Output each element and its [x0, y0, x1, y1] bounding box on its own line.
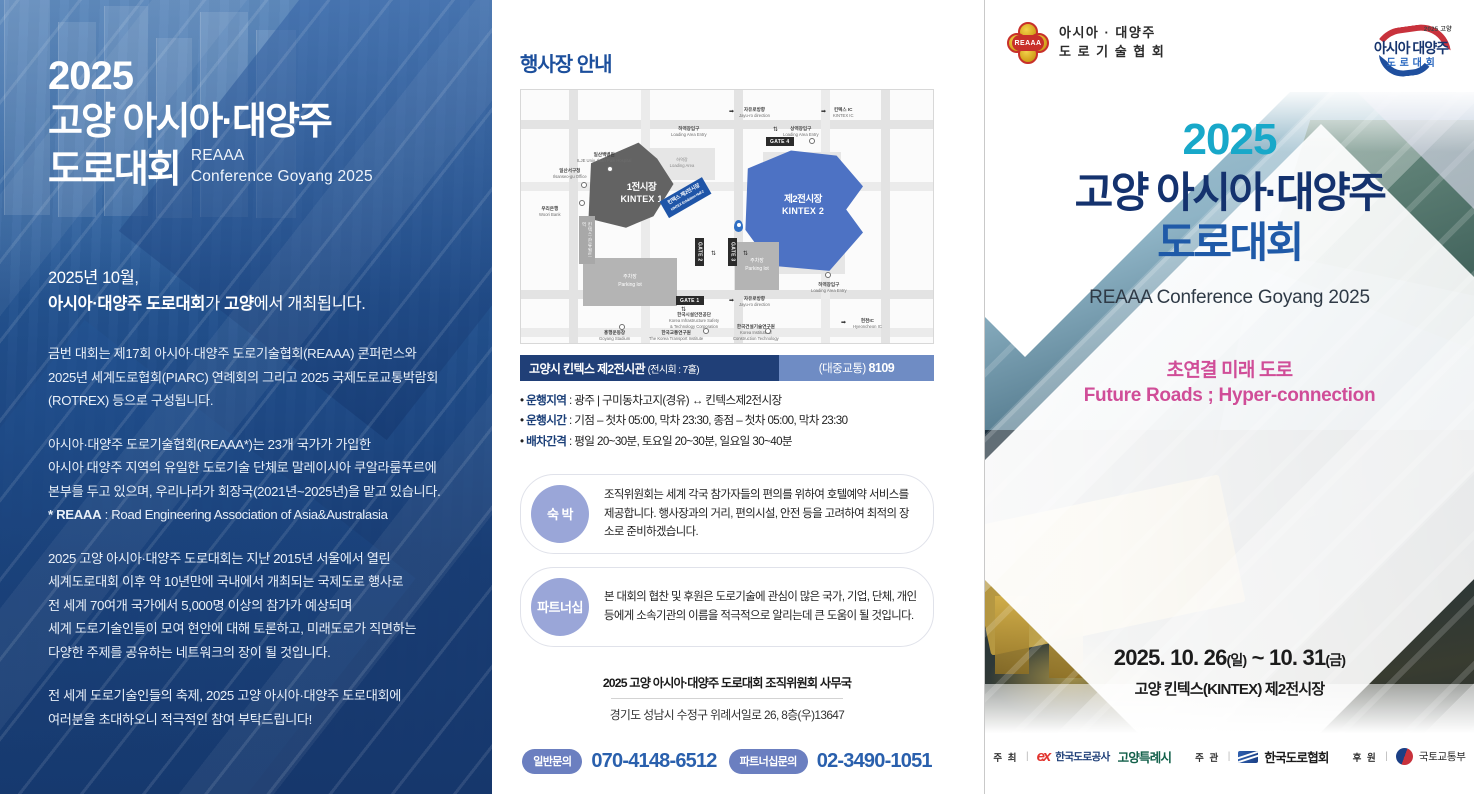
- date-start-day: (일): [1227, 652, 1247, 668]
- gate-2-marker[interactable]: GATE 2: [695, 238, 704, 266]
- event-venue: 고양 킨텍스(KINTEX) 제2전시장: [985, 678, 1474, 699]
- goyang-logo-line2: 도 로 대 회: [1370, 54, 1452, 69]
- right-title-line2: 도로대회: [985, 218, 1474, 268]
- bus-info-list: • 운행지역 : 광주 | 구미동차고지(경유) ↔ 킨텍스제2전시장 • 운행…: [520, 391, 962, 452]
- partnership-text: 본 대회의 협찬 및 후원은 도로기술에 관심이 많은 국가, 기업, 단체, …: [604, 588, 917, 625]
- brochure-page: 2025 고양 아시아·대양주 도로대회 REAAA Conference Go…: [0, 0, 1474, 794]
- left-content: 2025 고양 아시아·대양주 도로대회 REAAA Conference Go…: [0, 0, 492, 731]
- bus-venue-cell: 고양시 킨텍스 제2전시관 (전시회 : 7홀): [520, 355, 779, 381]
- sponsor-korea-road-assoc: 한국도로협회: [1264, 747, 1328, 766]
- date-start: 2025. 10. 26: [1114, 645, 1227, 670]
- left-paragraph-3: 2025 고양 아시아·대양주 도로대회는 지난 2015년 서울에서 열린 세…: [48, 547, 458, 665]
- goyang-logo-year: 2025 고양: [1424, 24, 1452, 33]
- general-inquiry-chip: 일반문의: [522, 749, 582, 774]
- accommodation-capsule: 숙 박 조직위원회는 세계 각국 참가자들의 편의를 위하여 호텔예약 서비스를…: [520, 474, 934, 554]
- left-footnote-text: : Road Engineering Association of Asia&A…: [101, 507, 387, 522]
- bus-row-label: 운행시간: [526, 414, 566, 427]
- left-body: 금번 대회는 제17회 아시아·대양주 도로기술협회(REAAA) 콘퍼런스와 …: [48, 342, 458, 731]
- right-logo-row: REAAA 아시아 · 대양주 도 로 기 술 협 회 2025 고양 아시아 …: [985, 16, 1474, 76]
- bus-row-label: 운행지역: [526, 394, 566, 407]
- left-lead-mid: 가: [205, 295, 224, 313]
- bus-row-value: 기점 – 첫차 05:00, 막차 23:30, 종점 – 첫차 05:00, …: [574, 414, 847, 427]
- right-subtitle-en: REAAA Conference Goyang 2025: [985, 287, 1474, 309]
- left-footnote: * REAAA : Road Engineering Association o…: [48, 503, 458, 527]
- venue-guide-heading: 행사장 안내: [520, 48, 962, 77]
- reaaa-logo: REAAA 아시아 · 대양주 도 로 기 술 협 회: [1007, 22, 1165, 64]
- bus-venue-name: 고양시 킨텍스 제2전시관: [529, 362, 645, 376]
- middle-panel: 행사장 안내 하역장Loading Area 하역장Loading Area 하…: [492, 0, 985, 794]
- goyang-conference-logo: 2025 고양 아시아 대양주 도 로 대 회: [1368, 18, 1454, 80]
- gate-4-marker[interactable]: GATE 4: [766, 137, 794, 146]
- sponsor-divider: |: [1026, 751, 1029, 762]
- bus-info-row: • 배차간격 : 평일 20~30분, 토요일 20~30분, 일요일 30~4…: [520, 432, 962, 452]
- gate-1-marker[interactable]: GATE 1: [676, 296, 704, 305]
- general-inquiry[interactable]: 일반문의 070-4148-6512: [522, 749, 716, 774]
- left-paragraph-1: 금번 대회는 제17회 아시아·대양주 도로기술협회(REAAA) 콘퍼런스와 …: [48, 342, 458, 413]
- right-year: 2025: [985, 118, 1474, 162]
- bus-row-value: 평일 20~30분, 토요일 20~30분, 일요일 30~40분: [574, 435, 792, 448]
- hall2-label-en: KINTEX 2: [753, 206, 853, 217]
- left-lead: 2025년 10월, 아시아·대양주 도로대회가 고양에서 개최됩니다.: [48, 265, 458, 318]
- left-subtitle: REAAA Conference Goyang 2025: [191, 146, 373, 193]
- reaaa-logo-text: 아시아 · 대양주 도 로 기 술 협 회: [1059, 24, 1165, 62]
- left-lead-tail: 에서 개최됩니다.: [254, 295, 366, 313]
- sponsor-korea-expressway: 한국도로공사: [1055, 749, 1109, 764]
- left-footnote-label: * REAAA: [48, 507, 101, 522]
- office-name: 2025 고양 아시아·대양주 도로대회 조직위원회 사무국: [520, 673, 934, 691]
- bus-row-value: 광주 | 구미동차고지(경유) ↔ 킨텍스제2전시장: [574, 394, 781, 407]
- parking-lot: 주차장Parking lot: [735, 242, 779, 290]
- right-title-line1: 고양 아시아·대양주: [985, 168, 1474, 218]
- date-end-day: (금): [1325, 652, 1345, 668]
- office-divider: [611, 698, 843, 699]
- bus-route-cell: (대중교통) 8109: [779, 355, 934, 381]
- sponsor-divider: |: [1228, 751, 1231, 762]
- reaaa-logo-line2: 도 로 기 술 협 회: [1059, 43, 1165, 62]
- sponsor-role-organizer: 주 관: [1195, 750, 1220, 764]
- office-address: 경기도 성남시 수정구 위례서일로 26, 8층(우)13647: [520, 706, 934, 723]
- bus-info-header: 고양시 킨텍스 제2전시관 (전시회 : 7홀) (대중교통) 8109: [520, 355, 934, 381]
- right-title-block: 2025 고양 아시아·대양주 도로대회 REAAA Conference Go…: [985, 118, 1474, 407]
- sponsor-divider: |: [1385, 751, 1388, 762]
- left-lead-strong: 아시아·대양주 도로대회: [48, 295, 205, 313]
- partnership-inquiry-number[interactable]: 02-3490-1051: [817, 750, 932, 773]
- organizing-office: 2025 고양 아시아·대양주 도로대회 조직위원회 사무국 경기도 성남시 수…: [520, 673, 934, 723]
- sponsor-ex-logo: ex 한국도로공사: [1037, 748, 1110, 765]
- right-content: REAAA 아시아 · 대양주 도 로 기 술 협 회 2025 고양 아시아 …: [985, 0, 1474, 794]
- venue-map[interactable]: 하역장Loading Area 하역장Loading Area 하역장Loadi…: [520, 89, 934, 344]
- bus-transport-label: (대중교통): [819, 363, 866, 375]
- left-title-row: 도로대회 REAAA Conference Goyang 2025: [48, 146, 458, 193]
- left-subtitle-line1: REAAA: [191, 146, 373, 167]
- sponsor-role-support: 후 원: [1353, 750, 1378, 764]
- bus-row-label: 배차간격: [526, 435, 566, 448]
- sponsor-role-host: 주 최: [993, 750, 1018, 764]
- sponsor-kra-logo: 한국도로협회: [1238, 747, 1328, 766]
- bus-route-number: 8109: [868, 361, 894, 375]
- accommodation-badge: 숙 박: [531, 485, 589, 543]
- map-pin-icon: [734, 220, 743, 232]
- gate-3-marker[interactable]: GATE 3: [728, 238, 737, 266]
- left-title-line1: 고양 아시아·대양주: [48, 100, 458, 145]
- ex-mark-icon: ex: [1037, 748, 1050, 765]
- parking-lot: 주차장Parking lot: [583, 258, 677, 306]
- left-paragraph-4: 전 세계 도로기술인들의 축제, 2025 고양 아시아·대양주 도로대회에 여…: [48, 684, 458, 731]
- bus-venue-hall: (전시회 : 7홀): [648, 365, 699, 376]
- parking-kr: 주차장: [583, 274, 677, 282]
- left-paragraph-2: 아시아·대양주 도로기술협회(REAAA*)는 23개 국가가 가입한 아시아 …: [48, 433, 458, 504]
- right-panel: REAAA 아시아 · 대양주 도 로 기 술 협 회 2025 고양 아시아 …: [985, 0, 1474, 794]
- subway-station-label: 킨텍스·한류월드역: [579, 216, 595, 264]
- bus-info-row: • 운행지역 : 광주 | 구미동차고지(경유) ↔ 킨텍스제2전시장: [520, 391, 962, 411]
- left-lead-city: 고양: [224, 295, 254, 313]
- taegeuk-icon: [1396, 748, 1413, 765]
- partnership-capsule: 파트너십 본 대회의 협찬 및 후원은 도로기술에 관심이 많은 국가, 기업,…: [520, 567, 934, 647]
- reaaa-logo-line1: 아시아 · 대양주: [1059, 24, 1165, 43]
- left-panel: 2025 고양 아시아·대양주 도로대회 REAAA Conference Go…: [0, 0, 492, 794]
- date-tilde: ~: [1246, 645, 1269, 670]
- reaaa-emblem-text: REAAA: [1012, 35, 1044, 51]
- sponsor-molit: 국토교통부: [1419, 749, 1466, 764]
- parking-en: Parking lot: [583, 282, 677, 290]
- event-dates: 2025. 10. 26(일) ~ 10. 31(금): [985, 645, 1474, 671]
- slogan-kr: 초연결 미래 도로: [985, 355, 1474, 382]
- partnership-inquiry[interactable]: 파트너십문의 02-3490-1051: [729, 749, 932, 774]
- partnership-inquiry-chip: 파트너십문의: [729, 749, 808, 774]
- partnership-badge: 파트너십: [531, 578, 589, 636]
- contact-numbers: 일반문의 070-4148-6512 파트너십문의 02-3490-1051: [520, 749, 934, 774]
- sponsor-molit-logo: 국토교통부: [1396, 748, 1466, 765]
- left-lead-line2: 아시아·대양주 도로대회가 고양에서 개최됩니다.: [48, 291, 458, 318]
- right-slogan-block: 초연결 미래 도로 Future Roads ; Hyper-connectio…: [985, 355, 1474, 407]
- parking-kr: 주차장: [735, 258, 779, 266]
- parking-en: Parking lot: [735, 266, 779, 274]
- kra-mark-icon: [1238, 751, 1258, 763]
- general-inquiry-number[interactable]: 070-4148-6512: [591, 750, 716, 773]
- bus-info-row: • 운행시간 : 기점 – 첫차 05:00, 막차 23:30, 종점 – 첫…: [520, 411, 962, 431]
- reaaa-emblem-icon: REAAA: [1007, 22, 1049, 64]
- sponsor-goyang-city: 고양특례시: [1118, 747, 1172, 766]
- left-lead-line1: 2025년 10월,: [48, 265, 458, 292]
- sponsor-row: 주 최 | ex 한국도로공사 고양특례시 주 관 | 한국도로협회 후 원 |: [985, 747, 1474, 766]
- date-end: 10. 31: [1269, 645, 1325, 670]
- accommodation-text: 조직위원회는 세계 각국 참가자들의 편의를 위하여 호텔예약 서비스를 제공합…: [604, 486, 917, 541]
- slogan-en: Future Roads ; Hyper-connection: [985, 385, 1474, 407]
- right-date-block: 2025. 10. 26(일) ~ 10. 31(금) 고양 킨텍스(KINTE…: [985, 645, 1474, 699]
- left-subtitle-line2: Conference Goyang 2025: [191, 167, 373, 188]
- left-year: 2025: [48, 56, 458, 96]
- left-title-line2: 도로대회: [48, 149, 180, 193]
- hall2-label-kr: 제2전시장: [753, 194, 853, 206]
- kintex-hall-2-label: 제2전시장 KINTEX 2: [753, 194, 853, 217]
